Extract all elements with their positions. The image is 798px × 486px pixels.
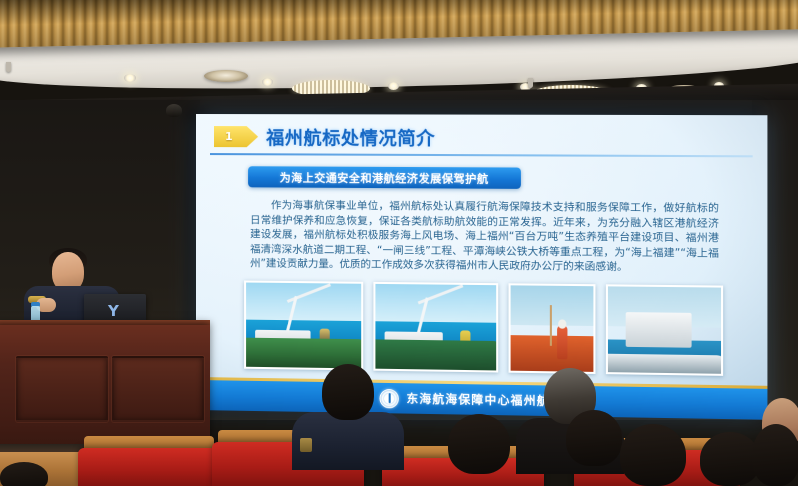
downlight-icon <box>262 78 273 86</box>
audience-member-head <box>700 432 760 486</box>
ceiling-speaker-icon <box>528 78 533 88</box>
uniform-shoulder-patch <box>300 438 312 452</box>
audience-member-head <box>752 424 798 486</box>
slide-photo-2 <box>373 282 498 373</box>
audience-member-head <box>322 364 374 420</box>
slide-subtitle-text: 为海上交通安全和港航经济发展保驾护航 <box>280 169 489 186</box>
audience-member-head <box>0 462 48 486</box>
screenshot-root: 1 福州航标处情况简介 为海上交通安全和港航经济发展保驾护航 作为海事航保事业单… <box>0 0 798 486</box>
photo-crew-helmet <box>559 319 566 328</box>
ceiling-speaker-icon <box>6 62 11 72</box>
ceiling-oval-light-icon <box>204 70 248 82</box>
slide-body-paragraph: 作为海事航保事业单位，福州航标处认真履行航海保障技术支持和服务保障工作，做好航标… <box>250 198 719 276</box>
title-divider <box>210 153 753 157</box>
downlight-icon <box>388 82 399 90</box>
photo-sky <box>375 284 496 324</box>
audience-member-head <box>448 414 510 474</box>
slide-title: 福州航标处情况简介 <box>266 124 435 151</box>
podium-panel <box>112 356 204 422</box>
slide-photo-4 <box>606 284 723 376</box>
slide-photo-1 <box>244 281 363 371</box>
photo-ship-hull <box>606 353 723 374</box>
photo-mast <box>550 305 552 346</box>
slide-photo-row <box>244 281 727 376</box>
audience-member-head <box>620 424 686 486</box>
slide-section-badge: 1 <box>214 126 258 147</box>
downlight-icon <box>124 74 136 82</box>
photo-sky <box>246 283 361 323</box>
slide-badge-number: 1 <box>225 130 233 143</box>
slide-body-copy: 作为海事航保事业单位，福州航标处认真履行航海保障技术支持和服务保障工作，做好航标… <box>250 198 719 276</box>
ceiling-camera-icon <box>166 104 182 117</box>
maritime-anchor-emblem-icon <box>380 388 399 408</box>
laptop-brand-logo: Y <box>108 302 119 320</box>
audience-member-head <box>566 410 622 466</box>
photo-ship-hull <box>373 340 498 371</box>
slide-photo-3 <box>509 283 596 374</box>
photo-ship-superstructure <box>626 312 692 347</box>
presentation-slide: 1 福州航标处情况简介 为海上交通安全和港航经济发展保驾护航 作为海事航保事业单… <box>196 114 767 420</box>
podium-panel <box>16 356 108 422</box>
photo-crew-member <box>557 325 568 359</box>
audience-seat <box>78 448 220 486</box>
slide-subtitle-banner: 为海上交通安全和港航经济发展保驾护航 <box>248 166 521 189</box>
